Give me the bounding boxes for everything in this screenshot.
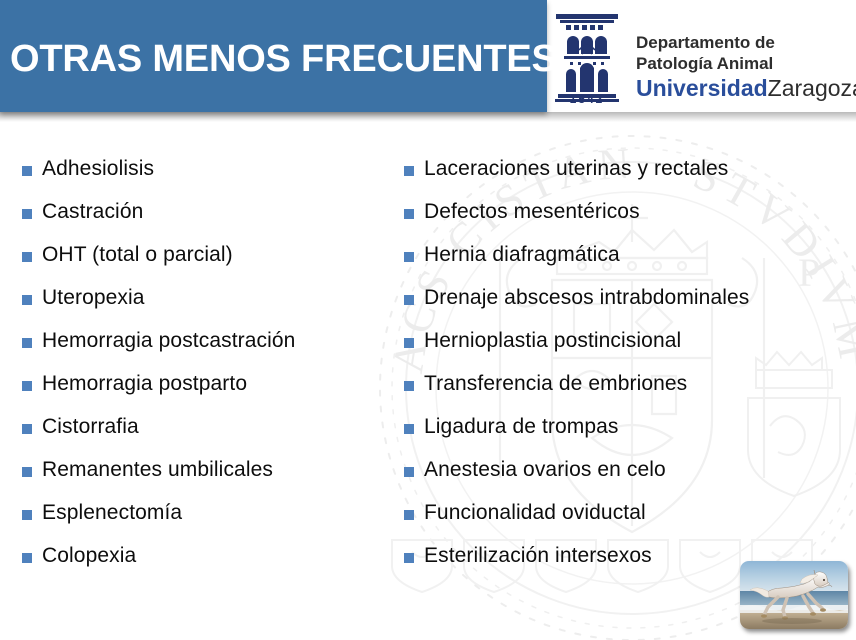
- list-item-label: Colopexia: [42, 542, 136, 570]
- header-shadow: [0, 112, 856, 122]
- square-bullet-icon: [404, 510, 414, 520]
- list-item-label: Laceraciones uterinas y rectales: [424, 155, 728, 183]
- slide: ACS CISTANAE STVDIVM: [0, 0, 856, 640]
- list-item: Defectos mesentéricos: [404, 198, 854, 241]
- square-bullet-icon: [404, 381, 414, 391]
- list-item: Hemorragia postcastración: [22, 327, 402, 370]
- logo-brand-zaragoza: Zaragoza: [768, 75, 856, 101]
- logo-department-line2: Patología Animal: [636, 53, 852, 74]
- title-bar: OTRAS MENOS FRECUENTES: [0, 0, 547, 112]
- square-bullet-icon: [22, 166, 32, 176]
- square-bullet-icon: [22, 338, 32, 348]
- square-bullet-icon: [404, 467, 414, 477]
- list-item: Hernia diafragmática: [404, 241, 854, 284]
- list-item: Transferencia de embriones: [404, 370, 854, 413]
- list-item: Remanentes umbilicales: [22, 456, 402, 499]
- list-item-label: Hemorragia postcastración: [42, 327, 295, 355]
- list-item-label: Castración: [42, 198, 143, 226]
- logo-brand: UniversidadZaragoza: [636, 75, 852, 105]
- square-bullet-icon: [404, 424, 414, 434]
- logo-text-block: Departamento de Patología Animal Univers…: [636, 32, 852, 105]
- list-item: Anestesia ovarios en celo: [404, 456, 854, 499]
- list-item-label: Drenaje abscesos intrabdominales: [424, 284, 749, 312]
- square-bullet-icon: [404, 338, 414, 348]
- square-bullet-icon: [404, 295, 414, 305]
- list-item-label: Transferencia de embriones: [424, 370, 687, 398]
- list-item: Hernioplastia postincisional: [404, 327, 854, 370]
- square-bullet-icon: [404, 209, 414, 219]
- square-bullet-icon: [404, 553, 414, 563]
- list-item: Drenaje abscesos intrabdominales: [404, 284, 854, 327]
- list-item-label: Esplenectomía: [42, 499, 182, 527]
- logo-brand-universidad: Universidad: [636, 75, 768, 101]
- square-bullet-icon: [22, 467, 32, 477]
- list-item-label: Esterilización intersexos: [424, 542, 652, 570]
- logo-founding-year: 1542: [556, 92, 618, 106]
- page-title: OTRAS MENOS FRECUENTES: [10, 38, 557, 80]
- square-bullet-icon: [22, 209, 32, 219]
- square-bullet-icon: [404, 166, 414, 176]
- list-item-label: Adhesiolisis: [42, 155, 154, 183]
- square-bullet-icon: [404, 252, 414, 262]
- square-bullet-icon: [22, 553, 32, 563]
- square-bullet-icon: [22, 381, 32, 391]
- list-item: Colopexia: [22, 542, 402, 585]
- square-bullet-icon: [22, 510, 32, 520]
- list-item: Ligadura de trompas: [404, 413, 854, 456]
- bullet-content: Adhesiolisis Castración OHT (total o par…: [0, 155, 856, 625]
- list-item-label: OHT (total o parcial): [42, 241, 233, 269]
- list-item: Laceraciones uterinas y rectales: [404, 155, 854, 198]
- bullet-column-right: Laceraciones uterinas y rectales Defecto…: [404, 155, 854, 585]
- list-item: OHT (total o parcial): [22, 241, 402, 284]
- university-logo: 1542 Departamento de Patología Animal Un…: [548, 6, 856, 112]
- list-item: Esplenectomía: [22, 499, 402, 542]
- square-bullet-icon: [22, 424, 32, 434]
- list-item-label: Anestesia ovarios en celo: [424, 456, 666, 484]
- list-item-label: Funcionalidad oviductal: [424, 499, 646, 527]
- list-item-label: Remanentes umbilicales: [42, 456, 273, 484]
- list-item: Cistorrafia: [22, 413, 402, 456]
- list-item: Funcionalidad oviductal: [404, 499, 854, 542]
- list-item-label: Defectos mesentéricos: [424, 198, 640, 226]
- galloping-white-horse-photo: [740, 561, 848, 629]
- list-item-label: Hernioplastia postincisional: [424, 327, 681, 355]
- square-bullet-icon: [22, 295, 32, 305]
- list-item: Adhesiolisis: [22, 155, 402, 198]
- list-item-label: Hernia diafragmática: [424, 241, 620, 269]
- list-item-label: Hemorragia postparto: [42, 370, 247, 398]
- list-item-label: Uteropexia: [42, 284, 145, 312]
- list-item: Castración: [22, 198, 402, 241]
- list-item: Hemorragia postparto: [22, 370, 402, 413]
- list-item-label: Cistorrafia: [42, 413, 139, 441]
- logo-department-line1: Departamento de: [636, 32, 852, 53]
- square-bullet-icon: [22, 252, 32, 262]
- bullet-column-left: Adhesiolisis Castración OHT (total o par…: [22, 155, 402, 585]
- list-item-label: Ligadura de trompas: [424, 413, 619, 441]
- list-item: Uteropexia: [22, 284, 402, 327]
